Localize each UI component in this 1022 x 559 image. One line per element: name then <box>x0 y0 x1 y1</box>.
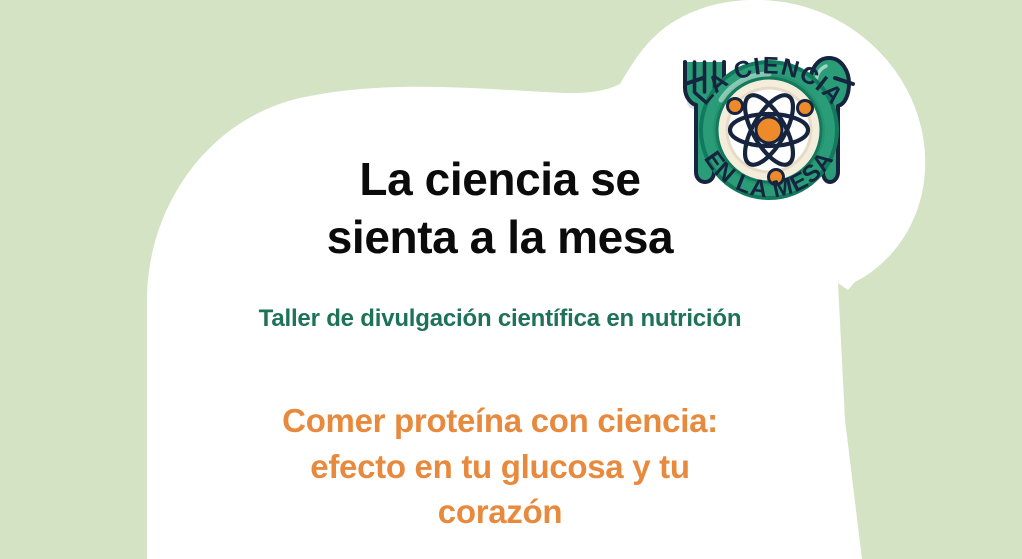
poster-subtitle: Taller de divulgación científica en nutr… <box>150 305 850 333</box>
page-title-line-1: La ciencia se <box>359 153 640 205</box>
poster-headline: Comer proteína con ciencia: efecto en tu… <box>180 398 820 535</box>
poster-canvas: La ciencia se sienta a la mesa Taller de… <box>0 0 1022 559</box>
logo-svg: LA CIENCIA EN LA MESA <box>663 22 875 234</box>
poster-headline-line-3: corazón <box>180 489 820 535</box>
poster-headline-line-2: efecto en tu glucosa y tu <box>180 444 820 490</box>
poster-headline-line-1: Comer proteína con ciencia: <box>180 398 820 444</box>
logo-badge: LA CIENCIA EN LA MESA <box>663 22 875 234</box>
